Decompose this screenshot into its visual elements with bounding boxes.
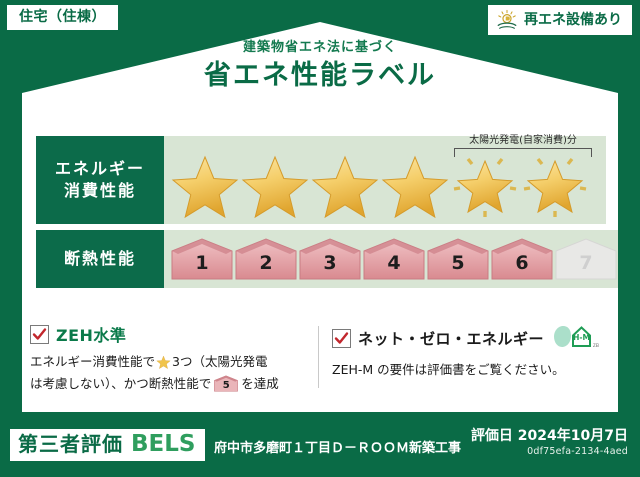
renewable-energy-label: 再エネ設備あり <box>524 13 622 27</box>
solar-annotation-label: 太陽光発電(自家消費)分 <box>448 135 598 146</box>
insulation-grade-2: 2 <box>234 237 298 281</box>
insulation-grade-number: 7 <box>554 237 618 281</box>
insulation-performance-label: 断熱性能 <box>36 230 164 288</box>
zeh-standard-block: ZEH水準 エネルギー消費性能で3つ（太陽光発電は考慮しない）、かつ断熱性能で5… <box>30 322 318 394</box>
project-name: 府中市多磨町１丁目Ｄ－ＲＯＯＭ新築工事 <box>214 437 461 456</box>
renewable-energy-badge: 再エネ設備あり <box>488 5 632 35</box>
insulation-grade-6: 6 <box>490 237 554 281</box>
insulation-grade-5: 5 <box>426 237 490 281</box>
energy-label-line2: 消費性能 <box>64 180 136 202</box>
star-filled <box>310 147 380 219</box>
energy-performance-row: エネルギー 消費性能 太陽光発電(自家消費)分 <box>36 136 606 224</box>
star-filled <box>170 147 240 219</box>
insulation-label-text: 断熱性能 <box>64 248 136 270</box>
evaluation-date: 評価日 2024年10月7日 <box>471 429 628 444</box>
zeh-standard-title: ZEH水準 <box>56 322 126 346</box>
insulation-grade-3: 3 <box>298 237 362 281</box>
zeh-standard-header: ZEH水準 <box>30 322 308 346</box>
zeh-standard-description: エネルギー消費性能で3つ（太陽光発電は考慮しない）、かつ断熱性能で5を達成 <box>30 352 308 394</box>
svg-text:ZEH-M: ZEH-M <box>593 343 599 348</box>
net-zero-energy-header: ネット・ゼロ・エネルギー H-M ZEH-M <box>332 322 610 354</box>
zeh-desc-part1: エネルギー消費性能で <box>30 354 155 369</box>
insulation-grade-number: 4 <box>362 237 426 281</box>
net-zero-energy-block: ネット・ゼロ・エネルギー H-M ZEH-M ZEH-M の要件は評価書をご覧く… <box>318 322 610 394</box>
star-solar-sparkle <box>520 147 590 219</box>
bels-jp-label: 第三者評価 <box>18 434 123 454</box>
inline-insulation-grade: 5 <box>213 375 239 392</box>
star-filled <box>380 147 450 219</box>
zeh-desc-part3: は考慮しない）、かつ断熱性能で <box>30 376 211 391</box>
check-icon <box>32 327 47 342</box>
zeh-standard-checkbox[interactable] <box>30 325 49 344</box>
svg-text:H-M: H-M <box>573 333 590 342</box>
insulation-grade-number: 5 <box>426 237 490 281</box>
insulation-grade-number: 1 <box>170 237 234 281</box>
insulation-grade-1: 1 <box>170 237 234 281</box>
insulation-performance-row: 断熱性能 1 <box>36 230 606 288</box>
net-zero-energy-checkbox[interactable] <box>332 329 351 348</box>
insulation-grade-number: 3 <box>298 237 362 281</box>
zeh-desc-part4: を達成 <box>241 376 279 391</box>
insulation-grade-scale: 1 2 3 <box>164 237 618 281</box>
zeh-desc-part2: 3つ（太陽光発電 <box>172 354 267 369</box>
bels-badge: 第三者評価 BELS <box>10 429 205 461</box>
inline-grade-number: 5 <box>213 375 239 392</box>
insulation-grade-4: 4 <box>362 237 426 281</box>
evaluation-id: 0df75efa-2134-4aed <box>471 446 628 457</box>
page-title: 省エネ性能ラベル <box>0 59 640 93</box>
energy-performance-value: 太陽光発電(自家消費)分 <box>164 136 606 224</box>
insulation-performance-value: 1 2 3 <box>164 230 618 288</box>
building-type-label: 住宅（住棟） <box>19 10 106 24</box>
insulation-grade-7: 7 <box>554 237 618 281</box>
star-icon <box>156 354 171 374</box>
energy-label-line1: エネルギー <box>55 158 145 180</box>
title-subtitle: 建築物省エネ法に基づく <box>0 40 640 56</box>
bels-en-label: BELS <box>131 433 195 456</box>
insulation-grade-number: 6 <box>490 237 554 281</box>
net-zero-energy-title: ネット・ゼロ・エネルギー <box>358 328 544 349</box>
net-zero-energy-description: ZEH-M の要件は評価書をご覧ください。 <box>332 360 610 379</box>
zeh-section: ZEH水準 エネルギー消費性能で3つ（太陽光発電は考慮しない）、かつ断熱性能で5… <box>30 322 610 394</box>
building-type-badge: 住宅（住棟） <box>7 5 118 30</box>
insulation-grade-number: 2 <box>234 237 298 281</box>
star-filled <box>240 147 310 219</box>
sun-icon <box>495 9 519 31</box>
check-icon <box>334 331 349 346</box>
star-solar-sparkle <box>450 147 520 219</box>
evaluation-info: 評価日 2024年10月7日 0df75efa-2134-4aed <box>471 429 628 457</box>
zeh-divider <box>318 326 319 388</box>
energy-performance-label: エネルギー 消費性能 <box>36 136 164 224</box>
footer-bar: 第三者評価 BELS 府中市多磨町１丁目Ｄ－ＲＯＯＭ新築工事 評価日 2024年… <box>0 419 640 477</box>
ratings-section: エネルギー 消費性能 太陽光発電(自家消費)分 <box>36 136 606 294</box>
label-title-block: 建築物省エネ法に基づく 省エネ性能ラベル <box>0 40 640 92</box>
zeh-m-logo-icon: H-M ZEH-M <box>553 322 599 354</box>
star-rating <box>164 147 590 219</box>
